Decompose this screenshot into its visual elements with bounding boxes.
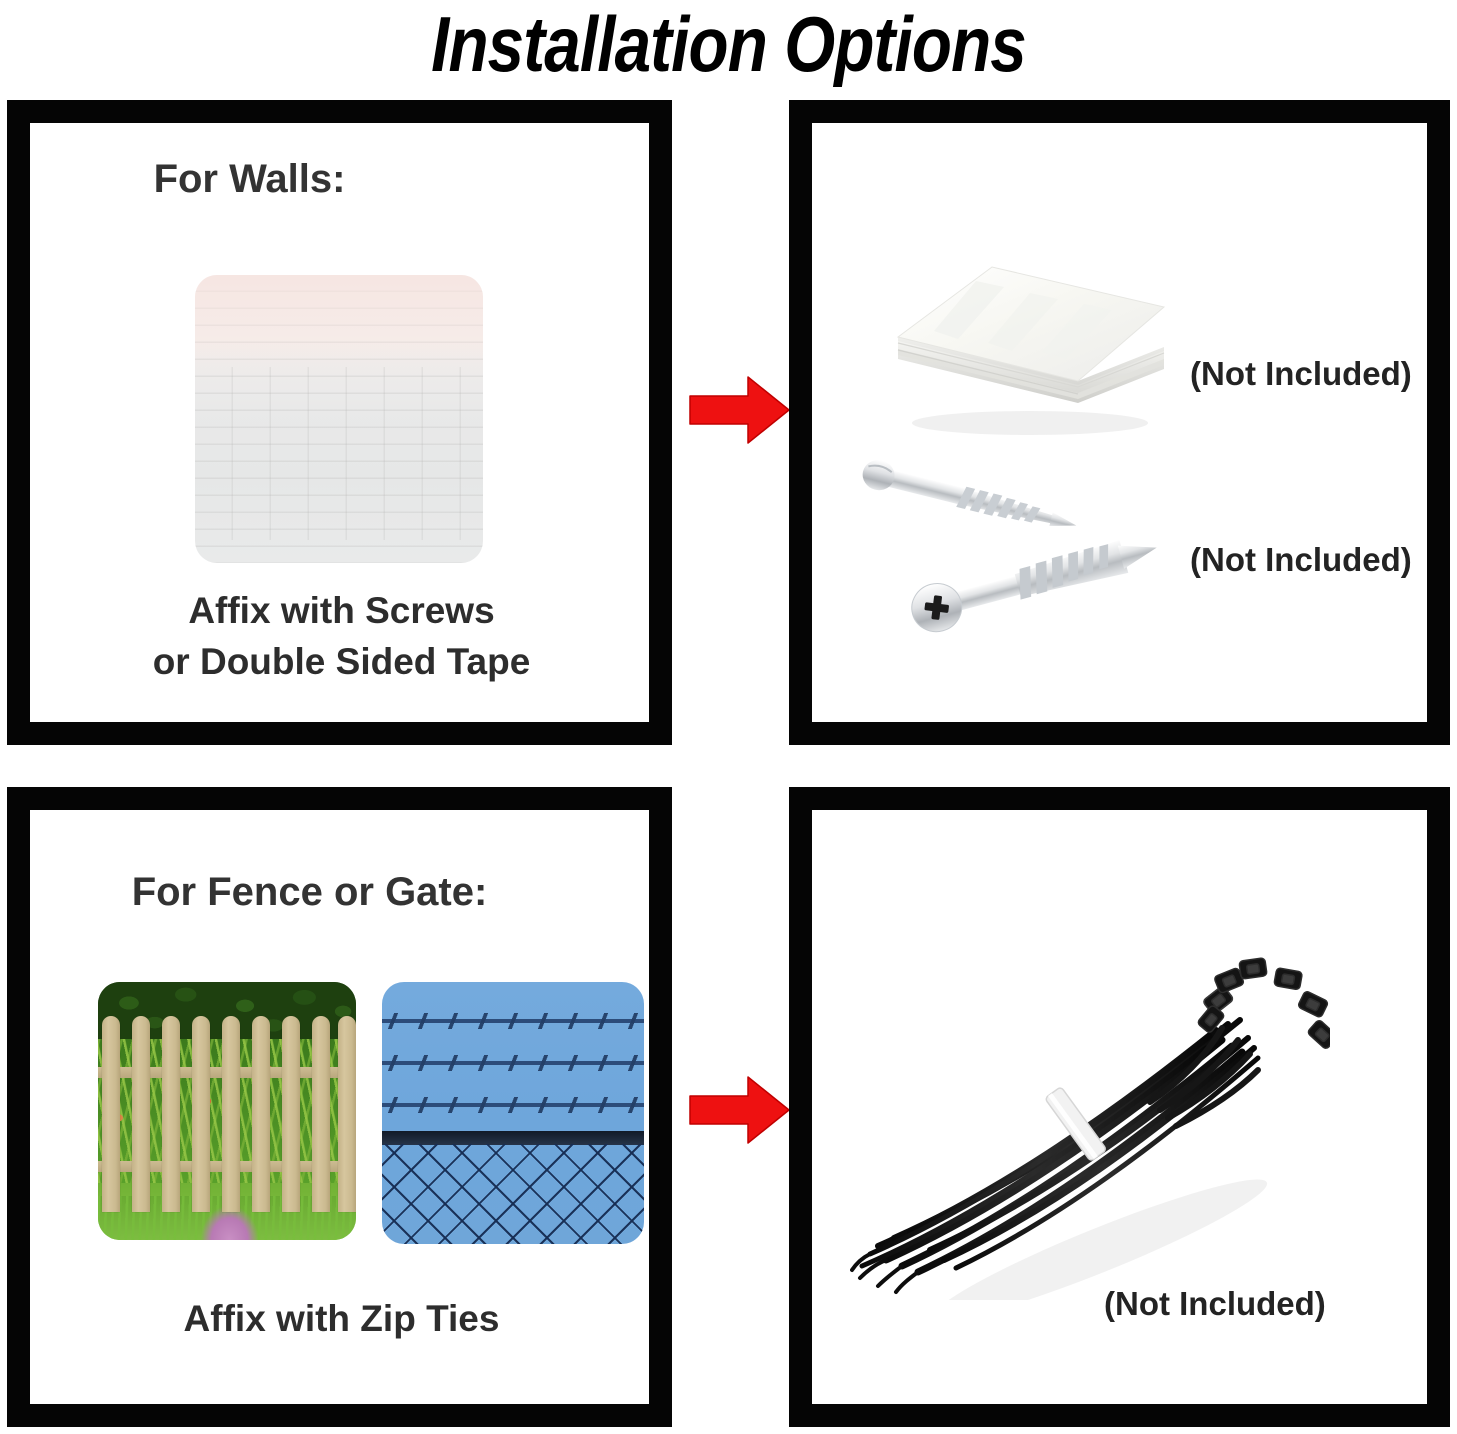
panel-for-fence-or-gate: For Fence or Gate: (7, 787, 672, 1427)
tape-not-included-label: (Not Included) (1190, 354, 1412, 394)
barbed-wire-strand (382, 1061, 644, 1065)
wood-screws (830, 453, 1190, 651)
brick-joint-lines (195, 367, 483, 540)
screws-not-included-label: (Not Included) (1190, 540, 1412, 580)
panel-zip-ties: (Not Included) (789, 787, 1450, 1427)
caption-line-1: Affix with Screws (34, 585, 649, 636)
double-sided-tape-stack (880, 251, 1182, 443)
barbed-wire-strand (382, 1103, 644, 1107)
barbed-wire-chain-link-fence-photo (382, 982, 644, 1244)
red-right-arrow-icon (688, 1074, 792, 1146)
fence-pickets (98, 1016, 356, 1212)
panel-fence-caption: Affix with Zip Ties (30, 1293, 649, 1344)
panel-walls-heading: For Walls: (30, 155, 649, 203)
chain-link-mesh (382, 1144, 644, 1244)
wooden-picket-fence-photo (98, 982, 356, 1240)
black-zip-ties-bundle (850, 920, 1330, 1300)
panel-fence-heading: For Fence or Gate: (30, 868, 649, 916)
barbed-wire-strand (382, 1019, 644, 1023)
brick-pink-tint (195, 275, 483, 373)
red-right-arrow-icon (688, 374, 792, 446)
page-title: Installation Options (117, 0, 1341, 90)
panel-for-walls: For Walls: Affix with Screws or Double S… (7, 100, 672, 745)
panel-walls-caption: Affix with Screws or Double Sided Tape (30, 585, 649, 687)
panel-wall-hardware: (Not Included) (789, 100, 1450, 745)
fence-top-rail (382, 1131, 644, 1145)
caption-line-2: or Double Sided Tape (34, 636, 649, 687)
zipties-not-included-label: (Not Included) (1104, 1284, 1326, 1324)
white-brick-wall-photo (195, 275, 483, 563)
